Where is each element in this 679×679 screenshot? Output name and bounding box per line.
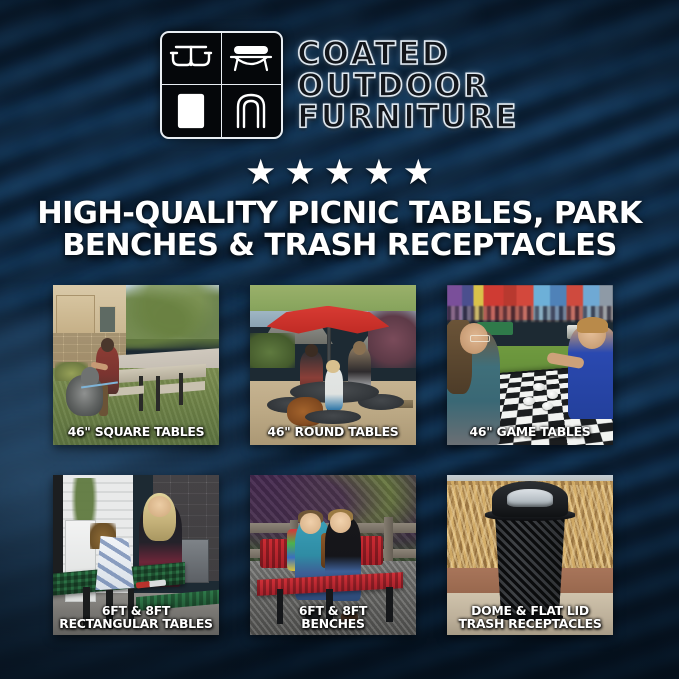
caption-line: 46" SQUARE TABLES: [55, 425, 217, 438]
product-tile-round-tables[interactable]: 46" ROUND TABLES: [250, 285, 416, 445]
product-tile-caption: 46" GAME TABLES: [449, 425, 611, 438]
product-photo-game-tables: [447, 285, 613, 445]
logo-word-outdoor: OUTDOOR: [297, 71, 489, 101]
star-icon: ★: [363, 157, 394, 189]
bench-icon: [222, 33, 282, 85]
headline-line-2: BENCHES & TRASH RECEPTACLES: [30, 230, 649, 262]
product-tile-rectangular-tables[interactable]: 6FT & 8FT RECTANGULAR TABLES: [53, 475, 219, 635]
arch-bike-rack-icon: [222, 85, 282, 137]
promo-banner: COATED OUTDOOR FURNITURE ★ ★ ★ ★ ★ HIGH-…: [0, 0, 679, 679]
star-icon: ★: [403, 157, 434, 189]
product-tile-caption: 46" ROUND TABLES: [252, 425, 414, 438]
star-icon: ★: [245, 157, 276, 189]
caption-line: 6FT & 8FT: [252, 604, 414, 617]
product-tile-caption: DOME & FLAT LID TRASH RECEPTACLES: [449, 604, 611, 630]
caption-line: 6FT & 8FT: [55, 604, 217, 617]
headline: HIGH-QUALITY PICNIC TABLES, PARK BENCHES…: [30, 198, 649, 263]
product-tile-benches[interactable]: 6FT & 8FT BENCHES: [250, 475, 416, 635]
headline-line-1: HIGH-QUALITY PICNIC TABLES, PARK: [30, 198, 649, 230]
trash-receptacle-icon: [162, 85, 222, 137]
logo-word-coated: COATED: [297, 39, 450, 69]
product-tile-trash-receptacles[interactable]: DOME & FLAT LID TRASH RECEPTACLES: [447, 475, 613, 635]
logo-word-furniture: FURNITURE: [297, 102, 519, 132]
logo-wordmark: COATED OUTDOOR FURNITURE: [297, 39, 519, 132]
caption-line: BENCHES: [252, 617, 414, 630]
caption-line: 46" ROUND TABLES: [252, 425, 414, 438]
star-icon: ★: [284, 157, 315, 189]
star-rating: ★ ★ ★ ★ ★: [0, 157, 679, 189]
product-category-grid: 46" SQUARE TABLES: [53, 285, 613, 635]
product-photo-round-tables: [250, 285, 416, 445]
caption-line: 46" GAME TABLES: [449, 425, 611, 438]
product-photo-square-tables: [53, 285, 219, 445]
caption-line: DOME & FLAT LID: [449, 604, 611, 617]
star-icon: ★: [324, 157, 355, 189]
caption-line: RECTANGULAR TABLES: [55, 617, 217, 630]
product-tile-game-tables[interactable]: 46" GAME TABLES: [447, 285, 613, 445]
product-tile-caption: 6FT & 8FT RECTANGULAR TABLES: [55, 604, 217, 630]
product-tile-square-tables[interactable]: 46" SQUARE TABLES: [53, 285, 219, 445]
caption-line: TRASH RECEPTACLES: [449, 617, 611, 630]
picnic-table-icon: [162, 33, 222, 85]
brand-logo: COATED OUTDOOR FURNITURE: [0, 24, 679, 146]
product-tile-caption: 6FT & 8FT BENCHES: [252, 604, 414, 630]
logo-icon-grid: [160, 31, 283, 139]
product-tile-caption: 46" SQUARE TABLES: [55, 425, 217, 438]
